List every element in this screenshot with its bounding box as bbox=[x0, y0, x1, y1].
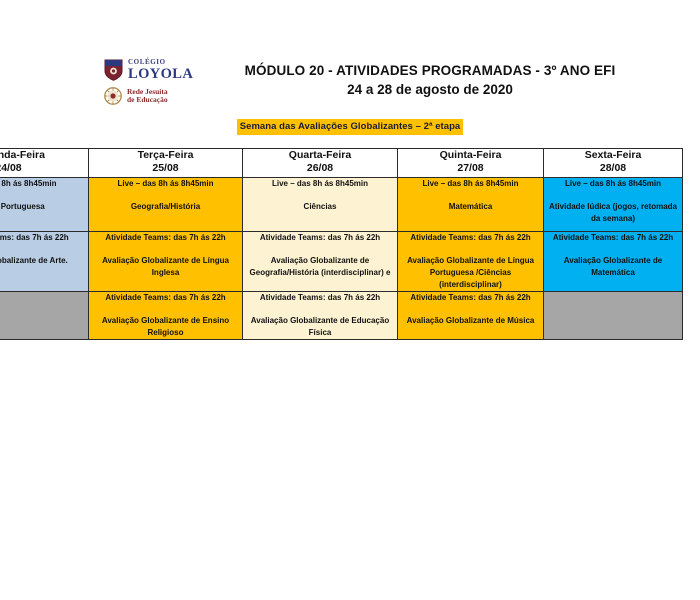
schedule-cell: Atividade Teams: das 7h ás 22h Avaliação… bbox=[89, 232, 243, 292]
cell-time: Atividade Teams: das 7h ás 22h bbox=[398, 232, 543, 244]
shield-crest-icon bbox=[104, 59, 123, 81]
column-header-thursday: Quinta-Feira 27/08 bbox=[398, 149, 544, 178]
header-day-name: Sexta-Feira bbox=[544, 149, 682, 162]
schedule-cell: Live – das 8h ás 8h45min Língua Portugue… bbox=[0, 178, 89, 232]
cell-subject: Avaliação Globalizante de Geografia/Hist… bbox=[243, 255, 397, 279]
cell-time: Atividade Teams: das 7h ás 22h bbox=[544, 232, 682, 244]
cell-time: Atividade Teams: das 7h ás 22h bbox=[89, 232, 242, 244]
schedule-cell-empty bbox=[0, 292, 89, 340]
schedule-cell: Atividade Teams: das 7h ás 22h Avaliação… bbox=[398, 292, 544, 340]
column-header-wednesday: Quarta-Feira 26/08 bbox=[243, 149, 398, 178]
schedule-cell: Atividade Teams: das 7h ás 22h Avaliação… bbox=[0, 232, 89, 292]
table-row: Live – das 8h ás 8h45min Língua Portugue… bbox=[0, 178, 683, 232]
column-header-tuesday: Terça-Feira 25/08 bbox=[89, 149, 243, 178]
cell-time: Atividade Teams: das 7h ás 22h bbox=[89, 292, 242, 304]
schedule-cell: Live – das 8h ás 8h45min Ciências bbox=[243, 178, 398, 232]
schedule-cell: Atividade Teams: das 7h ás 22h Avaliação… bbox=[398, 232, 544, 292]
cell-time: Atividade Teams: das 7h ás 22h bbox=[0, 232, 88, 244]
rede-jesuita-wordmark: Rede Jesuíta de Educação bbox=[127, 88, 168, 104]
cell-subject: Avaliação Globalizante de Língua Inglesa bbox=[89, 255, 242, 279]
header-day-date: 27/08 bbox=[398, 162, 543, 175]
header-day-date: 24/08 bbox=[0, 162, 88, 175]
rede-line-2: de Educação bbox=[127, 96, 168, 104]
cell-time: Live – das 8h ás 8h45min bbox=[0, 178, 88, 190]
schedule-cell: Live – das 8h ás 8h45min Geografia/Histó… bbox=[89, 178, 243, 232]
document-header: COLÉGIO LOYOLA bbox=[0, 0, 700, 148]
schedule-cell: Live – das 8h ás 8h45min Matemática bbox=[398, 178, 544, 232]
cell-subject: Matemática bbox=[398, 201, 543, 213]
header-day-date: 25/08 bbox=[89, 162, 242, 175]
cell-subject: Atividade lúdica (jogos, retomada da sem… bbox=[544, 201, 682, 225]
cell-time: Atividade Teams: das 7h ás 22h bbox=[243, 232, 397, 244]
cell-time: Atividade Teams: das 7h ás 22h bbox=[243, 292, 397, 304]
header-day-name: Quarta-Feira bbox=[243, 149, 397, 162]
logo-secondary-row: Rede Jesuíta de Educação bbox=[104, 87, 200, 105]
cell-time: Atividade Teams: das 7h ás 22h bbox=[398, 292, 543, 304]
cell-subject: Avaliação Globalizante de Arte. bbox=[0, 255, 88, 267]
cell-subject: Língua Portuguesa bbox=[0, 201, 88, 213]
header-day-name: Segunda-Feira bbox=[0, 149, 88, 162]
cell-time: Live – das 8h ás 8h45min bbox=[544, 178, 682, 190]
logo-primary-row: COLÉGIO LOYOLA bbox=[104, 59, 200, 82]
column-header-friday: Sexta-Feira 28/08 bbox=[544, 149, 683, 178]
schedule-cell: Atividade Teams: das 7h ás 22h Avaliação… bbox=[544, 232, 683, 292]
table-header-row: Segunda-Feira 24/08 Terça-Feira 25/08 Qu… bbox=[0, 149, 683, 178]
cell-subject: Avaliação Globalizante de Música bbox=[398, 315, 543, 327]
header-day-name: Quinta-Feira bbox=[398, 149, 543, 162]
subtitle-container: Semana das Avaliações Globalizantes – 2ª… bbox=[0, 116, 700, 135]
cell-time: Live – das 8h ás 8h45min bbox=[89, 178, 242, 190]
page-title: MÓDULO 20 - ATIVIDADES PROGRAMADAS - 3º … bbox=[200, 62, 660, 99]
logo-loyola-text: LOYOLA bbox=[128, 67, 193, 82]
schedule-cell: Atividade Teams: das 7h ás 22h Avaliação… bbox=[243, 292, 398, 340]
schedule-cell: Atividade Teams: das 7h ás 22h Avaliação… bbox=[89, 292, 243, 340]
table-row: Atividade Teams: das 7h ás 22h Avaliação… bbox=[0, 292, 683, 340]
schedule-cell-empty bbox=[544, 292, 683, 340]
cell-time: Live – das 8h ás 8h45min bbox=[243, 178, 397, 190]
title-date-range: 24 a 28 de agosto de 2020 bbox=[200, 81, 660, 99]
title-main: MÓDULO 20 - ATIVIDADES PROGRAMADAS - 3º … bbox=[200, 62, 660, 80]
schedule-cell: Atividade Teams: das 7h ás 22h Avaliação… bbox=[243, 232, 398, 292]
school-logo: COLÉGIO LOYOLA bbox=[104, 59, 200, 107]
header-day-date: 26/08 bbox=[243, 162, 397, 175]
cell-subject: Avaliação Globalizante de Língua Portugu… bbox=[398, 255, 543, 291]
logo-colegio-text: COLÉGIO bbox=[128, 59, 193, 66]
weekly-schedule-table: Segunda-Feira 24/08 Terça-Feira 25/08 Qu… bbox=[0, 148, 683, 340]
cell-subject: Geografia/História bbox=[89, 201, 242, 213]
sun-emblem-icon bbox=[104, 87, 122, 105]
cell-subject: Avaliação Globalizante de Matemática bbox=[544, 255, 682, 279]
schedule-page: COLÉGIO LOYOLA bbox=[0, 0, 700, 600]
cell-subject: Ciências bbox=[243, 201, 397, 213]
cell-subject: Avaliação Globalizante de Ensino Religio… bbox=[89, 315, 242, 339]
cell-time: Live – das 8h ás 8h45min bbox=[398, 178, 543, 190]
table-row: Atividade Teams: das 7h ás 22h Avaliação… bbox=[0, 232, 683, 292]
schedule-cell: Live – das 8h ás 8h45min Atividade lúdic… bbox=[544, 178, 683, 232]
column-header-monday: Segunda-Feira 24/08 bbox=[0, 149, 89, 178]
header-day-name: Terça-Feira bbox=[89, 149, 242, 162]
cell-subject: Avaliação Globalizante de Educação Físic… bbox=[243, 315, 397, 339]
subtitle-banner: Semana das Avaliações Globalizantes – 2ª… bbox=[237, 119, 464, 135]
header-day-date: 28/08 bbox=[544, 162, 682, 175]
logo-wordmark: COLÉGIO LOYOLA bbox=[128, 59, 193, 82]
